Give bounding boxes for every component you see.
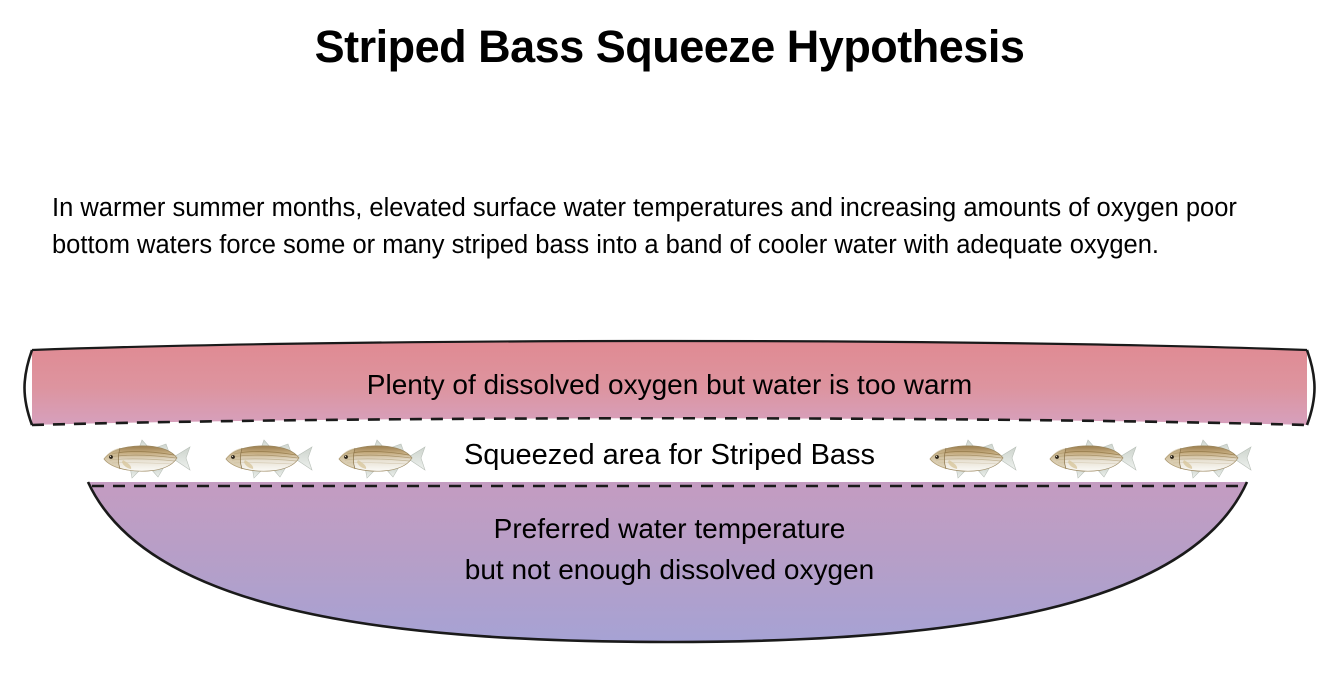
striped-bass-fish-icon: [98, 437, 194, 481]
striped-bass-fish-icon: [1159, 437, 1255, 481]
striped-bass-squeeze-diagram: Plenty of dissolved oxygen but water is …: [0, 330, 1339, 692]
striped-bass-fish-icon: [220, 437, 316, 481]
bottom-layer-label: Preferred water temperature but not enou…: [0, 508, 1339, 590]
page-title: Striped Bass Squeeze Hypothesis: [0, 22, 1339, 72]
intro-paragraph: In warmer summer months, elevated surfac…: [52, 190, 1292, 264]
striped-bass-fish-icon: [333, 437, 429, 481]
striped-bass-fish-icon: [924, 437, 1020, 481]
surface-layer-label: Plenty of dissolved oxygen but water is …: [0, 368, 1339, 402]
bottom-layer-label-line-1: Preferred water temperature: [0, 508, 1339, 549]
striped-bass-fish-icon: [1044, 437, 1140, 481]
bottom-layer-label-line-2: but not enough dissolved oxygen: [0, 549, 1339, 590]
